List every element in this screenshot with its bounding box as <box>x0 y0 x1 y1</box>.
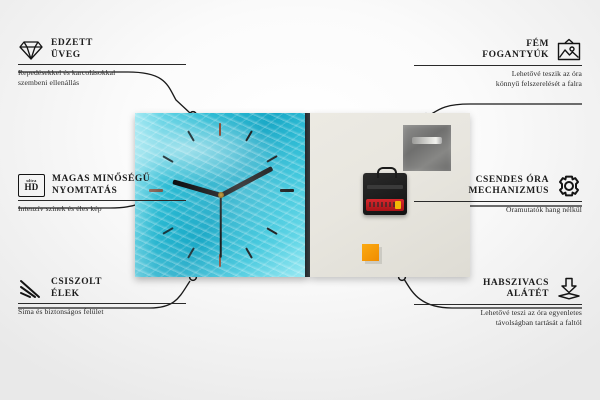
hour-marker <box>266 227 277 235</box>
feature-title: EDZETT ÜVEG <box>51 38 93 61</box>
battery-label <box>369 202 395 207</box>
minute-hand <box>220 166 273 197</box>
diamond-icon <box>18 39 44 61</box>
hour-marker <box>162 227 173 235</box>
metal-hanger <box>403 125 451 171</box>
feature-title: CSENDES ÓRA MECHANIZMUS <box>469 175 549 198</box>
feature-divider <box>18 200 186 201</box>
hanger-slot <box>412 137 442 144</box>
second-hand <box>220 195 222 257</box>
feature-divider <box>18 64 186 65</box>
feature-title: HABSZIVACS ALÁTÉT <box>483 278 549 301</box>
polished-edges-icon <box>18 278 44 300</box>
feature-csendes-ora-mechanizmus[interactable]: CSENDES ÓRA MECHANIZMUS Óramutatók hang … <box>414 174 582 215</box>
down-arrow-pad-icon <box>556 277 582 301</box>
feature-divider <box>18 303 186 304</box>
foam-pad <box>362 244 379 261</box>
hour-marker <box>245 130 253 141</box>
feature-header: CSISZOLT ÉLEK <box>18 277 186 300</box>
hour-marker <box>266 155 277 163</box>
gear-icon <box>556 174 582 198</box>
hour-marker <box>187 130 195 141</box>
hour-marker <box>187 247 195 258</box>
feature-header: FÉM FOGANTYÚK <box>414 38 582 62</box>
feature-title: FÉM FOGANTYÚK <box>482 39 549 62</box>
picture-hanger-icon <box>556 38 582 62</box>
feature-title: CSISZOLT ÉLEK <box>51 277 102 300</box>
hour-marker <box>245 247 253 258</box>
feature-divider <box>414 304 582 305</box>
feature-header: ultra HD MAGAS MINŐSÉGŰ NYOMTATÁS <box>18 174 186 197</box>
quartz-mechanism <box>363 173 407 215</box>
feature-header: EDZETT ÜVEG <box>18 38 186 61</box>
hour-marker <box>219 123 221 136</box>
hour-marker <box>162 155 173 163</box>
battery <box>366 199 404 211</box>
feature-divider <box>414 65 582 66</box>
hour-marker <box>219 254 221 267</box>
infographic-stage: EDZETT ÜVEG Repedésekkel és karcolásokka… <box>0 0 600 400</box>
ultra-hd-badge-icon: ultra HD <box>18 174 45 197</box>
feature-edzett-uveg[interactable]: EDZETT ÜVEG Repedésekkel és karcolásokka… <box>18 38 186 88</box>
mechanism-hook <box>377 167 397 178</box>
feature-header: CSENDES ÓRA MECHANIZMUS <box>414 174 582 198</box>
ultra-hd-large-text: HD <box>25 183 39 192</box>
feature-title: MAGAS MINŐSÉGŰ NYOMTATÁS <box>52 174 150 197</box>
clock-center-pin <box>218 192 224 198</box>
feature-habszivacs-alatet[interactable]: HABSZIVACS ALÁTÉT Lehetővé teszi az óra … <box>414 277 582 328</box>
feature-magas-minosegu-nyomtatas[interactable]: ultra HD MAGAS MINŐSÉGŰ NYOMTATÁS Intenz… <box>18 174 186 214</box>
feature-divider <box>414 201 582 202</box>
feature-header: HABSZIVACS ALÁTÉT <box>414 277 582 301</box>
hour-marker <box>280 189 294 192</box>
feature-fem-fogantyuk[interactable]: FÉM FOGANTYÚK Lehetővé teszik az óra kön… <box>414 38 582 89</box>
feature-csiszolt-elek[interactable]: CSISZOLT ÉLEK Sima és biztonságos felüle… <box>18 277 186 317</box>
mechanism-detail <box>367 185 403 189</box>
